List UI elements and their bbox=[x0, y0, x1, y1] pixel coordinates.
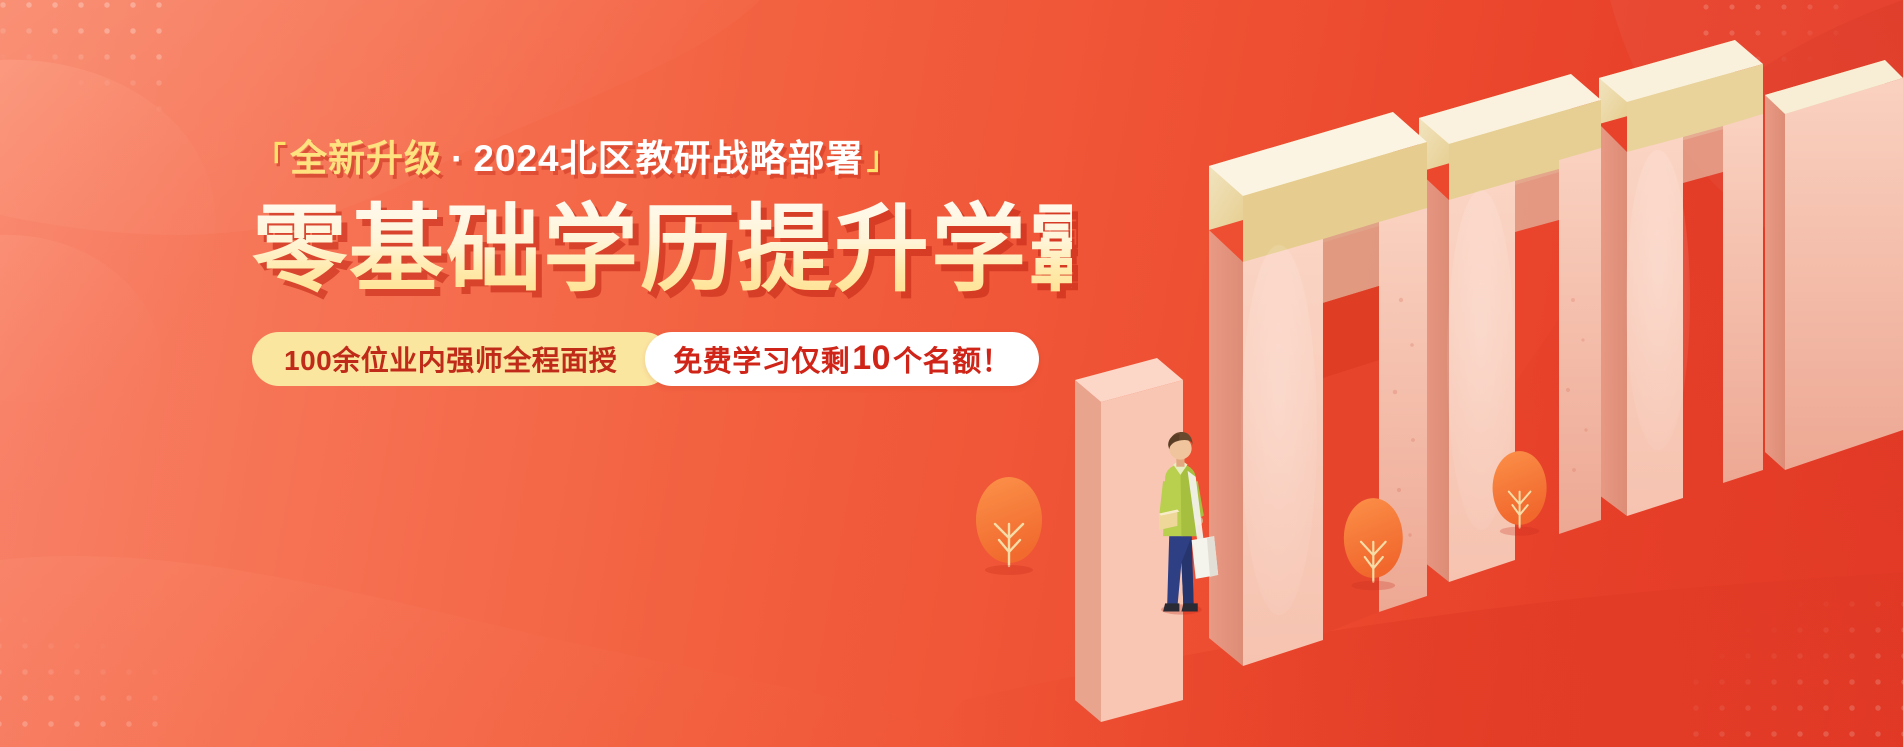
subtitle-part-2: 2024北区教研战略部署 bbox=[473, 140, 863, 177]
promo-banner: 「 全新升级 · 2024北区教研战略部署 」 零基础学历提升学霸班 100余位… bbox=[0, 0, 1903, 747]
subtitle-part-1: 全新升级 bbox=[290, 140, 442, 177]
pill-free-quota-suffix: 个名额！ bbox=[893, 338, 1011, 380]
subtitle-open-bracket: 「 bbox=[255, 143, 287, 174]
dot-pattern-top-left-icon bbox=[0, 0, 180, 112]
subtitle-separator-icon: · bbox=[451, 140, 464, 177]
pill-free-quota-number: 10 bbox=[850, 339, 893, 378]
pill-teachers: 100余位业内强师全程面授 bbox=[252, 332, 671, 386]
banner-subtitle: 「 全新升级 · 2024北区教研战略部署 」 bbox=[252, 140, 1072, 177]
page-title: 零基础学历提升学霸班 bbox=[252, 199, 1072, 302]
subtitle-close-bracket: 」 bbox=[867, 143, 899, 174]
banner-highlight-pills: 100余位业内强师全程面授 免费学习仅剩 10 个名额！ bbox=[252, 332, 1072, 386]
dot-pattern-bottom-left-icon bbox=[0, 607, 166, 747]
pill-free-quota[interactable]: 免费学习仅剩 10 个名额！ bbox=[645, 332, 1039, 386]
banner-copy: 「 全新升级 · 2024北区教研战略部署 」 零基础学历提升学霸班 100余位… bbox=[252, 140, 1072, 386]
pill-free-quota-prefix: 免费学习仅剩 bbox=[673, 338, 850, 380]
